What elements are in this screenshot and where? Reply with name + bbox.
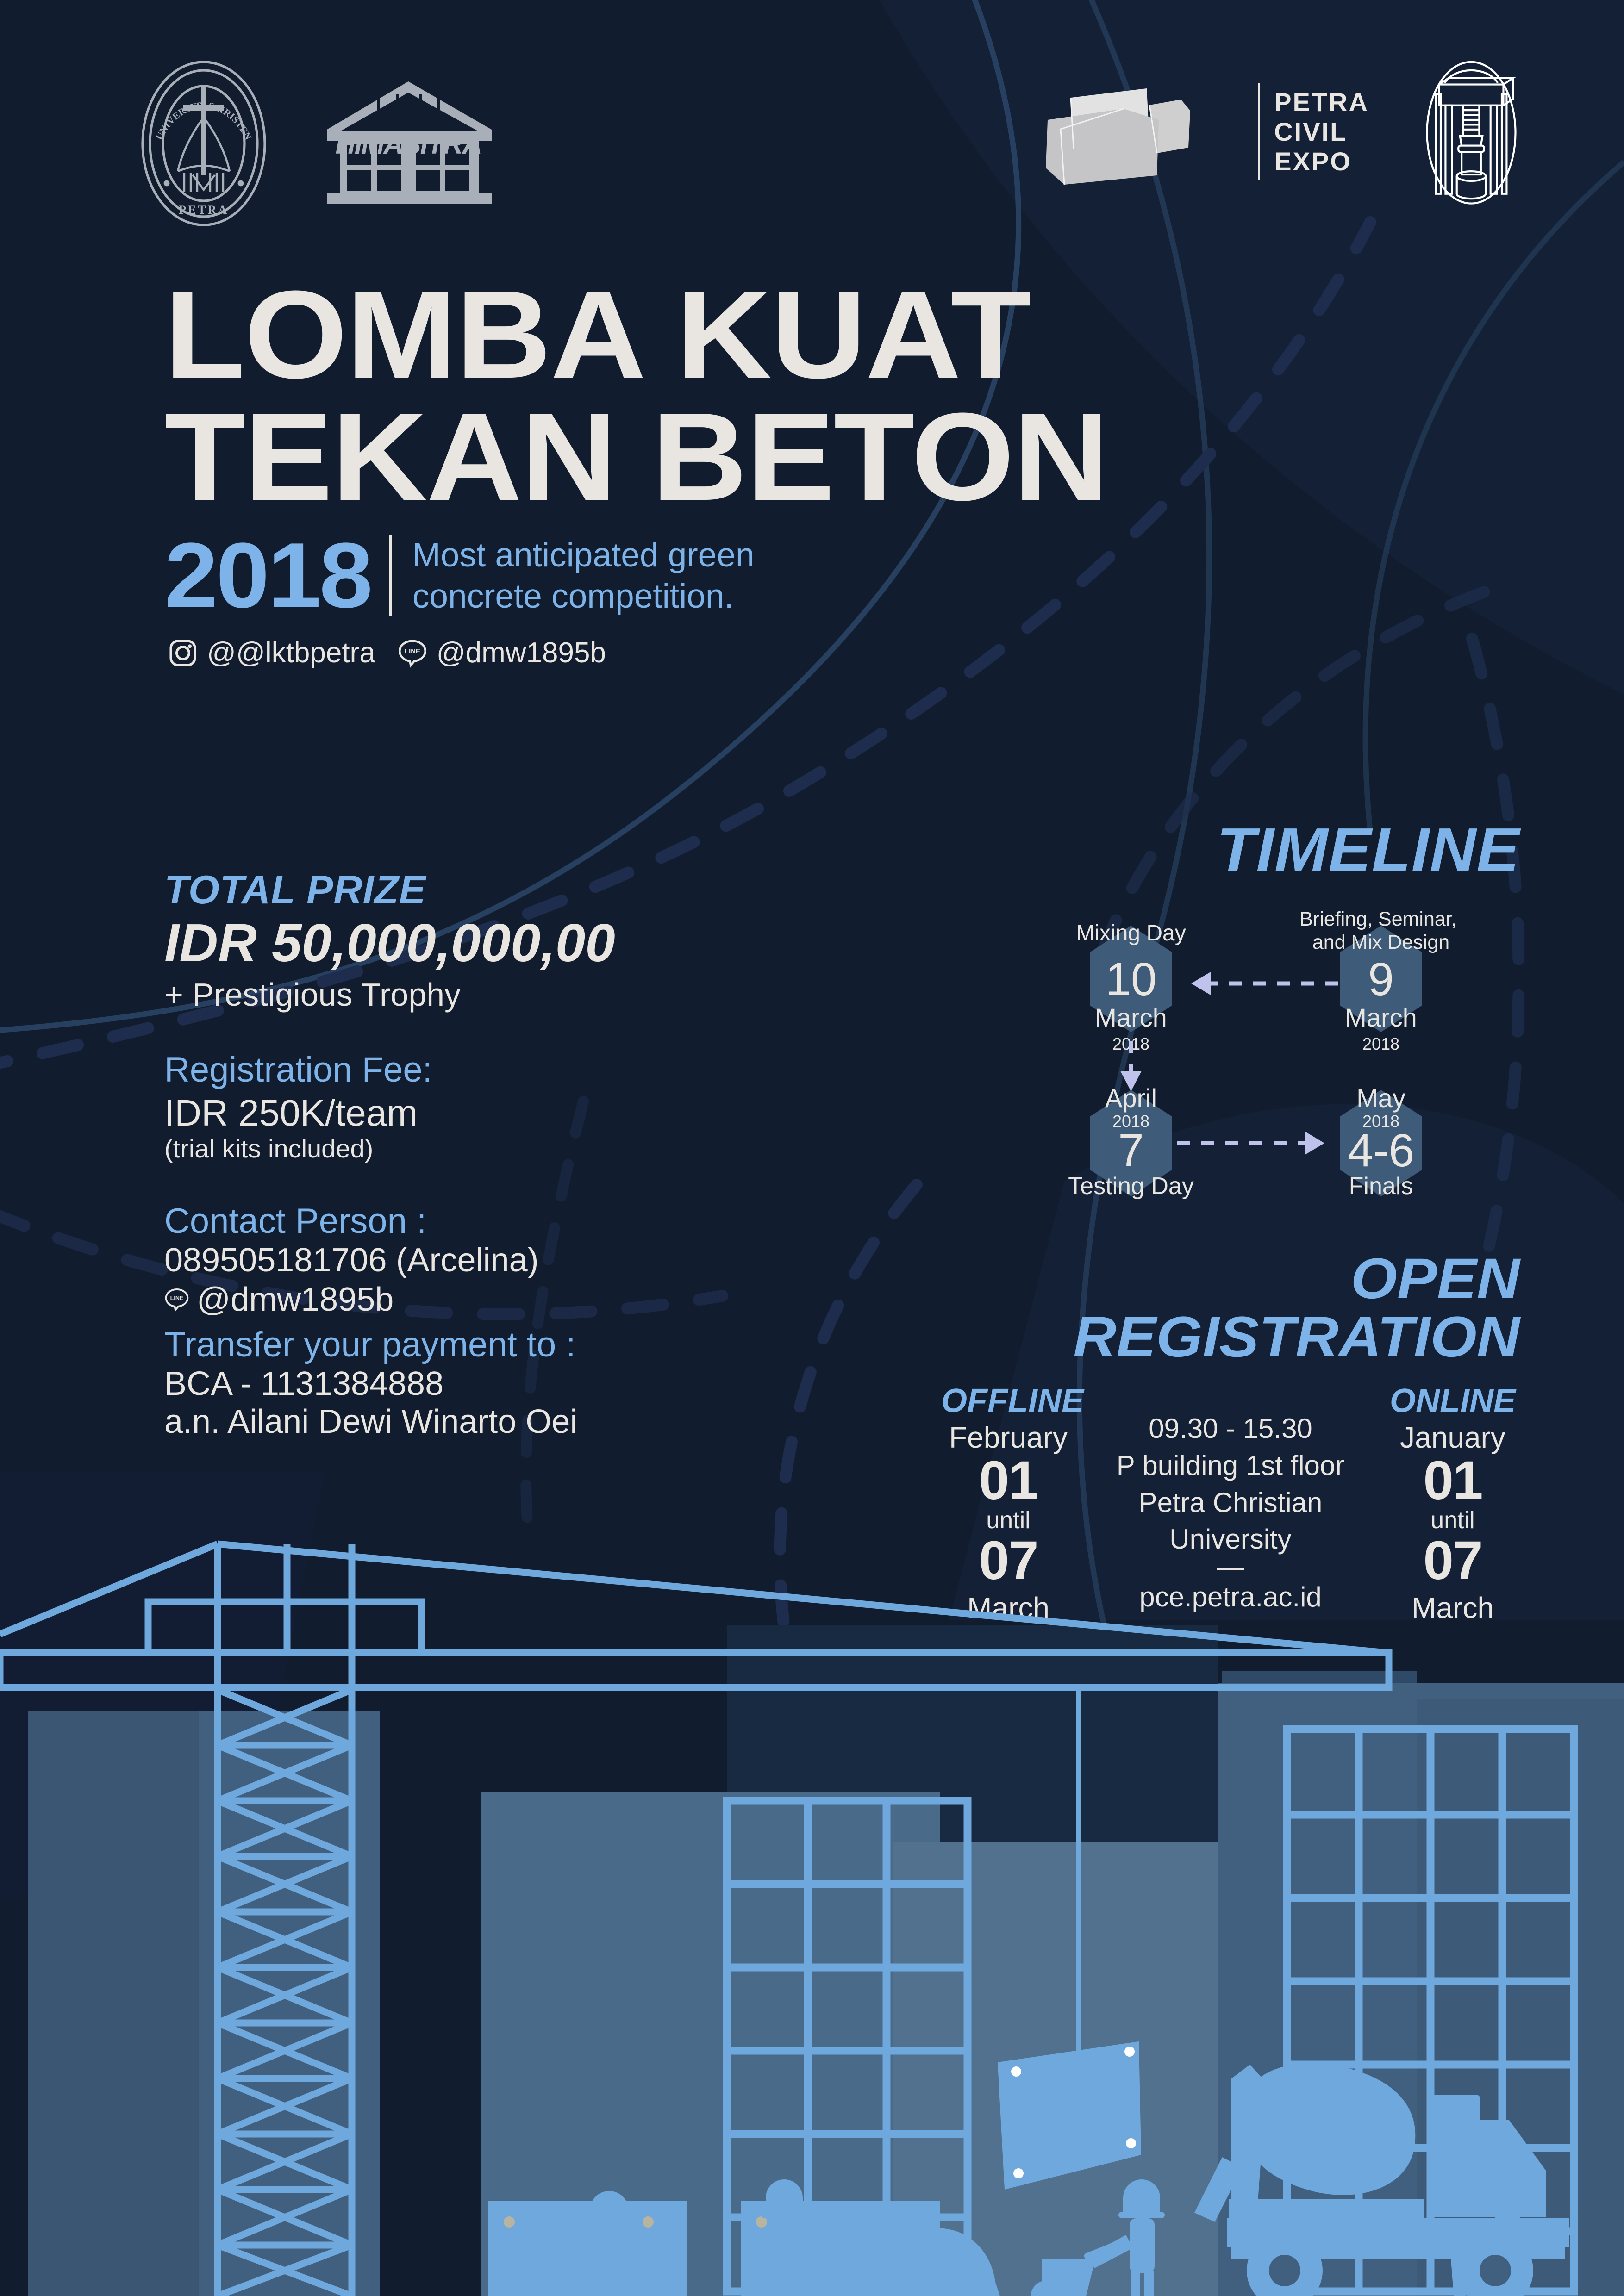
logo-divider [1258,83,1260,180]
total-prize-label: TOTAL PRIZE [164,870,859,910]
spacer-2 [164,1164,859,1201]
header-logos-left: UNIVERSITAS KRISTEN PETRA HIMASITRA [111,51,494,236]
timeline-event-year: 2018 [1362,1034,1399,1053]
timeline-event-name: Finals [1349,1173,1413,1199]
registration-place-1: P building 1st floor [1101,1447,1360,1484]
bank-account: BCA - 1131384888 [164,1365,859,1403]
year-divider [389,535,392,616]
pce-line3: EXPO [1274,149,1369,174]
prize-extra: + Prestigious Trophy [164,977,859,1013]
poster-root: UNIVERSITAS KRISTEN PETRA HIMASITRA [0,0,1624,2296]
timeline-event-month: March [1095,1003,1167,1032]
timeline-event-day: 4-6 [1348,1125,1415,1176]
himasitra-logo-icon: HIMASITRA [323,74,494,213]
timeline-node-finals: May 2018 4-6 Finals [1340,1083,1422,1199]
registration-fee-label: Registration Fee: [164,1051,859,1089]
contact-line-id: @dmw1895b [197,1281,394,1319]
spacer [164,1013,859,1051]
account-name: a.n. Ailani Dewi Winarto Oei [164,1403,859,1441]
year-label: 2018 [164,536,371,615]
open-registration-title-1: OPEN [918,1250,1520,1308]
instagram-icon [168,638,198,668]
title-block: LOMBA KUAT TEKAN BETON 2018 Most anticip… [164,278,1055,668]
header-logos-right: PETRA CIVIL EXPO [1040,56,1538,208]
construction-cityscape-illustration [0,1518,1624,2296]
open-registration-title-2: REGISTRATION [918,1308,1520,1366]
timeline-node-mixing-day: Mixing Day 10 March 2018 [1076,921,1186,1053]
universitas-kristen-petra-seal-icon: UNIVERSITAS KRISTEN PETRA [111,51,296,236]
online-start-day: 01 [1386,1453,1520,1508]
title-line-2: TEKAN BETON [164,400,1108,515]
timeline-event-name: Testing Day [1068,1173,1194,1199]
timeline-event-month: March [1345,1003,1417,1032]
timeline-event-month: May [1356,1083,1405,1113]
timeline-diagram: Briefing, Seminar, and Mix Design 9 Marc… [1038,902,1520,1199]
contact-phone: 089505181706 (Arcelina) [164,1241,859,1279]
timeline-section: TIMELINE Briefing, Seminar, and Mix Desi… [1038,819,1520,1199]
timeline-event-day: 7 [1118,1125,1144,1176]
pce-line1: PETRA [1274,89,1369,115]
timeline-event-day: 10 [1105,953,1156,1005]
online-label: ONLINE [1386,1384,1520,1418]
line-icon: LINE [398,638,427,668]
info-column: TOTAL PRIZE IDR 50,000,000,00 + Prestigi… [164,870,859,1441]
registration-hours: 09.30 - 15.30 [1101,1410,1360,1447]
svg-text:LINE: LINE [170,1294,184,1301]
title-line-1: LOMBA KUAT [164,278,1108,392]
timeline-node-testing-day: April 2018 7 Testing Day [1068,1083,1194,1199]
timeline-node-briefing: Briefing, Seminar, and Mix Design 9 Marc… [1299,908,1462,1053]
pce-line2: CIVIL [1274,119,1369,145]
contact-line-row[interactable]: LINE @dmw1895b [164,1281,859,1319]
year-tagline-row: 2018 Most anticipated green concrete com… [164,535,1055,617]
social-handles: @@lktbpetra LINE @dmw1895b [168,638,1055,668]
compression-test-machine-icon [1404,56,1538,208]
transfer-label: Transfer your payment to : [164,1325,859,1365]
timeline-title: TIMELINE [1014,819,1520,880]
petra-civil-expo-wordmark: PETRA CIVIL EXPO [1274,89,1369,174]
instagram-handle-group[interactable]: @@lktbpetra [168,638,375,668]
timeline-arrow-1 [1191,972,1338,995]
tagline: Most anticipated green concrete competit… [412,535,755,617]
contact-person-label: Contact Person : [164,1201,859,1242]
timeline-arrow-3 [1177,1132,1324,1155]
online-start-month: January [1386,1422,1520,1453]
line-handle: @dmw1895b [437,639,606,667]
concrete-blocks-icon [1040,72,1244,192]
line-icon: LINE [164,1287,189,1312]
registration-fee-amount: IDR 250K/team [164,1092,859,1134]
line-handle-group[interactable]: LINE @dmw1895b [398,638,606,668]
instagram-handle: @@lktbpetra [207,639,375,667]
offline-label: OFFLINE [941,1384,1075,1418]
registration-fee-note: (trial kits included) [164,1134,859,1164]
himasitra-wordmark: HIMASITRA [335,129,481,160]
timeline-event-day: 9 [1368,953,1394,1005]
timeline-event-month: April [1105,1083,1157,1113]
offline-start-day: 01 [941,1453,1075,1508]
offline-start-month: February [941,1422,1075,1453]
seal-bottom-text: PETRA [179,203,229,217]
total-prize-amount: IDR 50,000,000,00 [164,915,859,971]
svg-text:LINE: LINE [405,647,420,655]
timeline-event-name: Mixing Day [1076,921,1186,946]
